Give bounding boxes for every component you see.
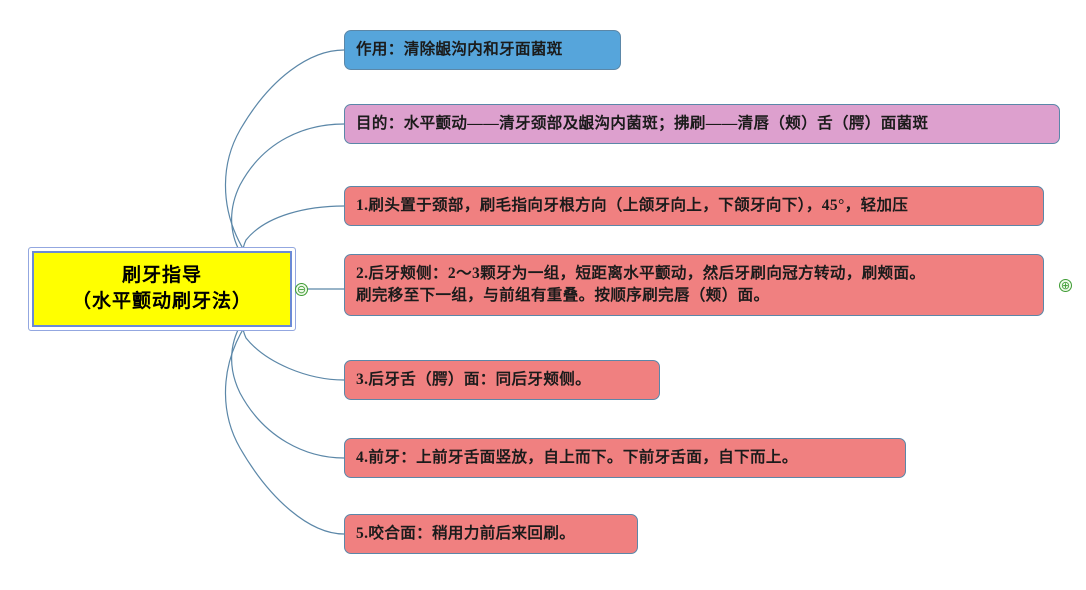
branch-node-purpose-effect[interactable]: 作用：清除龈沟内和牙面菌斑 (344, 30, 621, 70)
minus-circle-icon: ⊖ (297, 284, 306, 295)
plus-circle-icon: ⊕ (1061, 280, 1070, 291)
branch-node-step-1[interactable]: 1.刷头置于颈部，刷毛指向牙根方向（上颌牙向上，下颌牙向下），45°，轻加压 (344, 186, 1044, 226)
branch-node-label: 目的：水平颤动——清牙颈部及龈沟内菌斑；拂刷——清唇（颊）舌（腭）面菌斑 (356, 113, 928, 135)
branch-node-step-2[interactable]: 2.后牙颊侧：2～3颗牙为一组，短距离水平颤动，然后牙刷向冠方转动，刷颊面。 刷… (344, 254, 1044, 316)
root-node-label: 刷牙指导 （水平颤动刷牙法） (72, 263, 252, 315)
branch-node-step-4[interactable]: 4.前牙：上前牙舌面竖放，自上而下。下前牙舌面，自下而上。 (344, 438, 906, 478)
branch-node-step-5[interactable]: 5.咬合面：稍用力前后来回刷。 (344, 514, 638, 554)
branch-node-label: 作用：清除龈沟内和牙面菌斑 (356, 39, 563, 61)
branch-node-step-2-expand-toggle-icon[interactable]: ⊕ (1059, 279, 1072, 292)
branch-node-label: 2.后牙颊侧：2～3颗牙为一组，短距离水平颤动，然后牙刷向冠方转动，刷颊面。 刷… (356, 263, 925, 307)
branch-node-label: 4.前牙：上前牙舌面竖放，自上而下。下前牙舌面，自下而上。 (356, 447, 798, 469)
branch-node-label: 1.刷头置于颈部，刷毛指向牙根方向（上颌牙向上，下颌牙向下），45°，轻加压 (356, 195, 908, 217)
branch-node-label: 5.咬合面：稍用力前后来回刷。 (356, 523, 575, 545)
branch-node-step-3[interactable]: 3.后牙舌（腭）面：同后牙颊侧。 (344, 360, 660, 400)
mindmap-canvas: 刷牙指导 （水平颤动刷牙法） ⊖ 作用：清除龈沟内和牙面菌斑 目的：水平颤动——… (0, 0, 1086, 590)
root-collapse-toggle-icon[interactable]: ⊖ (295, 283, 308, 296)
branch-node-label: 3.后牙舌（腭）面：同后牙颊侧。 (356, 369, 591, 391)
root-node[interactable]: 刷牙指导 （水平颤动刷牙法） (28, 247, 296, 331)
branch-node-objective[interactable]: 目的：水平颤动——清牙颈部及龈沟内菌斑；拂刷——清唇（颊）舌（腭）面菌斑 (344, 104, 1060, 144)
